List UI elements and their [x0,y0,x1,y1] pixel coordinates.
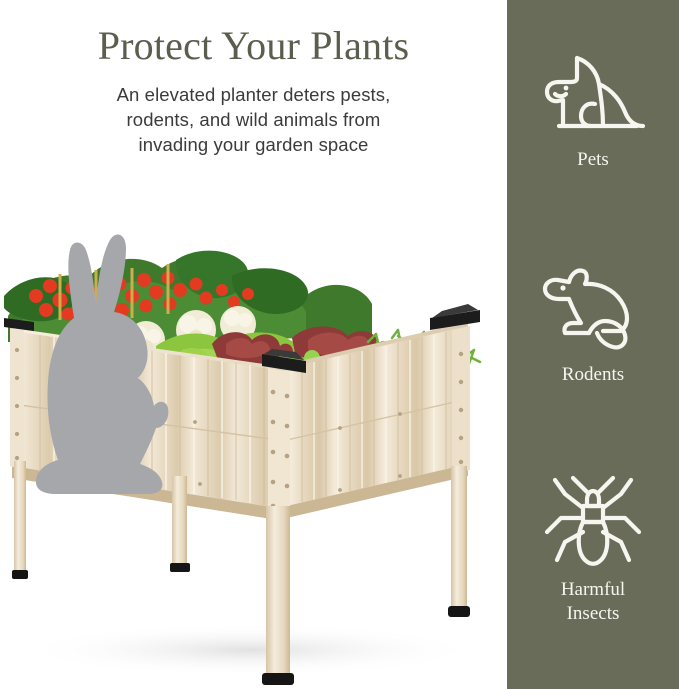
subtitle-line-1: An elevated planter deters pests, [40,82,467,107]
features-side-panel: Pets Rodents [507,0,679,689]
left-content-pane: Protect Your Plants An elevated planter … [0,0,507,689]
product-image [0,218,507,689]
foot-cap-back-left [12,570,28,579]
planter-illustration [0,218,507,689]
corner-post-right [452,326,470,474]
foot-cap-front-center [262,673,294,685]
subtitle: An elevated planter deters pests, rodent… [40,82,467,157]
leg-back-mid [172,476,187,566]
ground-shadow [20,624,480,676]
leg-front-center [266,506,290,676]
rodent-icon [533,255,653,355]
dog-icon [533,40,653,140]
insect-icon [533,470,653,570]
foot-cap-back-mid [170,563,190,572]
feature-label-insects-line2: Insects [507,602,679,626]
feature-label-insects: Harmful Insects [507,578,679,626]
foot-cap-right [448,606,470,617]
subtitle-line-2: rodents, and wild animals from [40,107,467,132]
page-title: Protect Your Plants [0,22,507,70]
leg-back-left [14,461,26,573]
feature-insects: Harmful Insects [507,470,679,626]
feature-label-insects-line1: Harmful [507,578,679,602]
feature-label-pets: Pets [507,148,679,172]
feature-label-rodents: Rodents [507,363,679,387]
leg-right [451,466,467,610]
feature-rodents: Rodents [507,255,679,387]
feature-pets: Pets [507,40,679,172]
subtitle-line-3: invading your garden space [40,132,467,157]
product-feature-graphic: Protect Your Plants An elevated planter … [0,0,679,689]
